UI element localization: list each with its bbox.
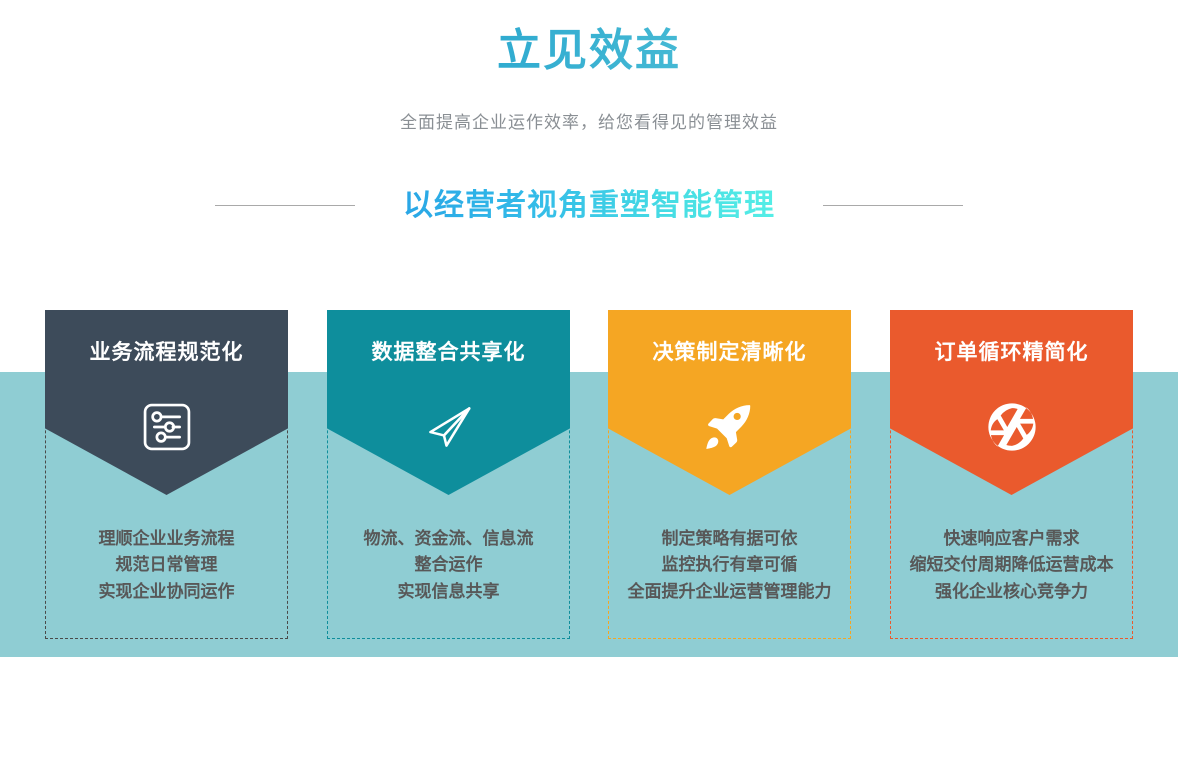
card-description: 制定策略有据可依 监控执行有章可循 全面提升企业运营管理能力: [594, 526, 865, 605]
card-description-line: 实现信息共享: [313, 579, 584, 605]
card-title: 业务流程规范化: [45, 336, 288, 366]
card-title: 决策制定清晰化: [608, 336, 851, 366]
divider-line-right: [823, 205, 963, 206]
benefit-card[interactable]: 决策制定清晰化 制定策略有据可依 监控执行有章可循 全面提升企业运营管理能力: [608, 310, 851, 639]
card-title: 数据整合共享化: [327, 336, 570, 366]
section-heading: 以经营者视角重塑智能管理: [0, 186, 1178, 225]
card-description-line: 理顺企业业务流程: [31, 526, 302, 552]
card-description-line: 实现企业协同运作: [31, 579, 302, 605]
card-description: 理顺企业业务流程 规范日常管理 实现企业协同运作: [31, 526, 302, 605]
rocket-icon: [703, 400, 757, 454]
aperture-icon: [985, 400, 1039, 454]
benefit-card[interactable]: 订单循环精简化 快速响应客户需求 缩短交付周期降低运营成本 强化企业核心竞争力: [890, 310, 1133, 639]
card-description-line: 监控执行有章可循: [594, 552, 865, 578]
card-description-line: 物流、资金流、信息流: [313, 526, 584, 552]
card-description-line: 全面提升企业运营管理能力: [594, 579, 865, 605]
benefit-card[interactable]: 业务流程规范化 理顺企业业务流程 规范日常管理 实现企业协同运作: [45, 310, 288, 639]
benefits-page: 立见效益 全面提高企业运作效率，给您看得见的管理效益 以经营者视角重塑智能管理 …: [0, 0, 1178, 771]
card-title: 订单循环精简化: [890, 336, 1133, 366]
divider-line-left: [215, 205, 355, 206]
card-description: 快速响应客户需求 缩短交付周期降低运营成本 强化企业核心竞争力: [876, 526, 1147, 605]
benefit-card[interactable]: 数据整合共享化 物流、资金流、信息流 整合运作 实现信息共享: [327, 310, 570, 639]
card-description-line: 快速响应客户需求: [876, 526, 1147, 552]
sliders-icon: [140, 400, 194, 454]
card-description-line: 整合运作: [313, 552, 584, 578]
card-description-line: 缩短交付周期降低运营成本: [876, 552, 1147, 578]
paper-plane-icon: [422, 400, 476, 454]
card-description: 物流、资金流、信息流 整合运作 实现信息共享: [313, 526, 584, 605]
card-description-line: 规范日常管理: [31, 552, 302, 578]
page-title: 立见效益: [0, 25, 1178, 78]
card-description-line: 制定策略有据可依: [594, 526, 865, 552]
card-description-line: 强化企业核心竞争力: [876, 579, 1147, 605]
section-title: 以经营者视角重塑智能管理: [403, 186, 775, 225]
page-subtitle: 全面提高企业运作效率，给您看得见的管理效益: [0, 108, 1178, 133]
